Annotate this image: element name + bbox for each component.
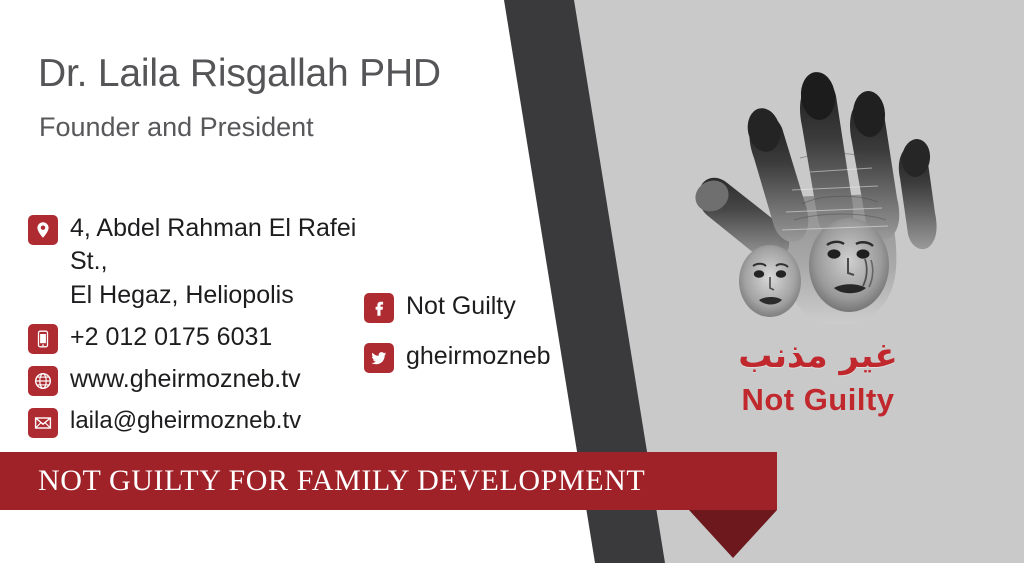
address-text: 4, Abdel Rahman El Rafei St., El Hegaz, … (70, 212, 378, 312)
mobile-phone-icon (28, 324, 58, 354)
contact-row-twitter[interactable]: gheirmozneb (364, 340, 604, 373)
person-role: Founder and President (39, 112, 314, 143)
globe-icon (28, 366, 58, 396)
contact-row-facebook[interactable]: Not Guilty (364, 290, 604, 323)
contact-row-address: 4, Abdel Rahman El Rafei St., El Hegaz, … (28, 212, 378, 312)
location-pin-icon (28, 215, 58, 245)
email-text[interactable]: laila@gheirmozneb.tv (70, 405, 301, 437)
website-text[interactable]: www.gheirmozneb.tv (70, 363, 301, 396)
twitter-bird-icon (364, 343, 394, 373)
envelope-icon (28, 408, 58, 438)
banner-text: NOT GUILTY FOR FAMILY DEVELOPMENT (38, 464, 645, 498)
organization-logo: غير مذنب Not Guilty (668, 62, 968, 440)
contact-row-phone: +2 012 0175 6031 (28, 321, 378, 354)
contact-list-primary: 4, Abdel Rahman El Rafei St., El Hegaz, … (28, 212, 378, 447)
phone-text: +2 012 0175 6031 (70, 321, 272, 354)
handprint-graphic (682, 62, 954, 362)
twitter-text[interactable]: gheirmozneb (406, 340, 551, 373)
contact-row-email[interactable]: laila@gheirmozneb.tv (28, 405, 378, 438)
logo-english-text: Not Guilty (668, 382, 968, 418)
child-face-left (739, 245, 801, 317)
business-card: Dr. Laila Risgallah PHD Founder and Pres… (0, 0, 1024, 563)
facebook-icon (364, 293, 394, 323)
facebook-text[interactable]: Not Guilty (406, 290, 516, 323)
page-title: Dr. Laila Risgallah PHD (38, 52, 441, 96)
contact-list-social: Not Guilty gheirmozneb (364, 290, 604, 391)
child-face-right (809, 218, 889, 312)
bottom-banner: NOT GUILTY FOR FAMILY DEVELOPMENT (0, 452, 777, 510)
contact-row-website[interactable]: www.gheirmozneb.tv (28, 363, 378, 396)
logo-arabic-text: غير مذنب (668, 336, 968, 376)
